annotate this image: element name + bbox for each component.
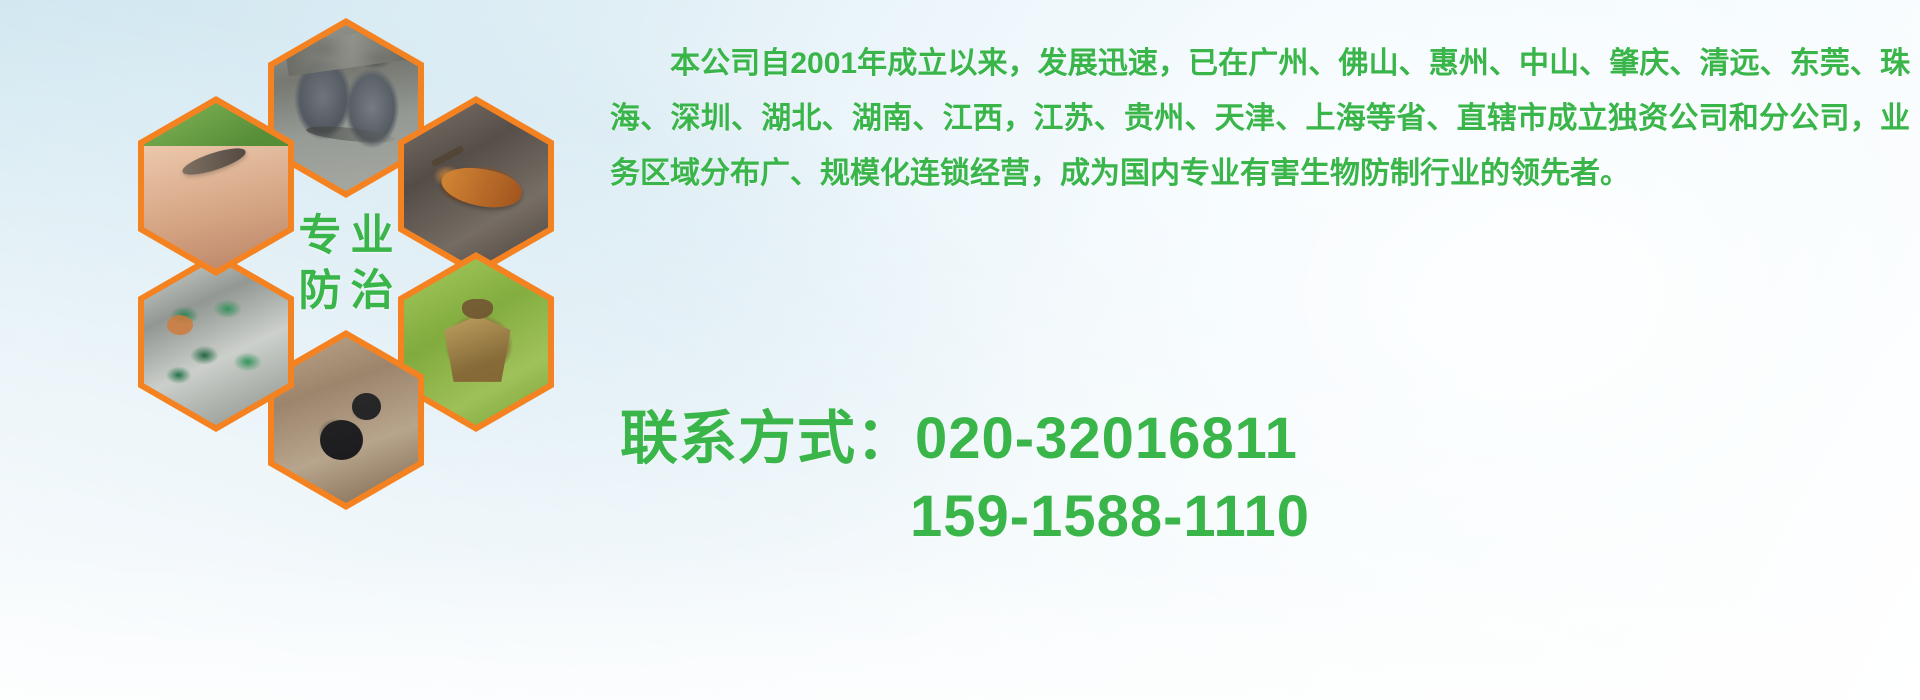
hexagon-badge-inner: 专业 防治 <box>274 181 418 347</box>
honeycomb-image-cluster: 专业 防治 <box>98 18 598 558</box>
contact-block: 联系方式：020-32016811 159-1588-1110 <box>620 400 1910 556</box>
mosquito-leaf-background <box>144 103 288 159</box>
hexagon-fly-inner <box>144 259 288 425</box>
badge-line-2: 防治 <box>290 270 403 313</box>
cockroach-photo-icon <box>404 103 548 269</box>
rat-photo-icon <box>274 25 418 191</box>
mosquito-photo-icon <box>144 103 288 269</box>
contact-phone-primary[interactable]: 联系方式：020-32016811 <box>620 400 1910 478</box>
mosquito-skin-background <box>144 146 288 269</box>
hexagon-cockroach-inner <box>404 103 548 269</box>
stink-bug-photo-icon <box>404 259 548 425</box>
hexagon-mosquito-inner <box>144 103 288 269</box>
mosquito-body-shape <box>180 143 248 179</box>
hexagon-ant-inner <box>274 337 418 503</box>
fly-photo-icon <box>144 259 288 425</box>
badge-text-group: 专业 防治 <box>274 181 418 347</box>
banner-content: 本公司自2001年成立以来，发展迅速，已在广州、佛山、惠州、中山、肇庆、清远、东… <box>610 0 1920 700</box>
hexagon-stink-bug-inner <box>404 259 548 425</box>
contact-phone-secondary[interactable]: 159-1588-1110 <box>620 478 1910 556</box>
hexagon-rat-inner <box>274 25 418 191</box>
pest-control-banner: 专业 防治 本公司自2001年成立以来，发展迅速，已在广州、佛山、惠州、中山、肇… <box>0 0 1920 700</box>
ant-photo-icon <box>274 337 418 503</box>
badge-line-1: 专业 <box>290 215 403 258</box>
company-description-paragraph: 本公司自2001年成立以来，发展迅速，已在广州、佛山、惠州、中山、肇庆、清远、东… <box>610 36 1910 201</box>
